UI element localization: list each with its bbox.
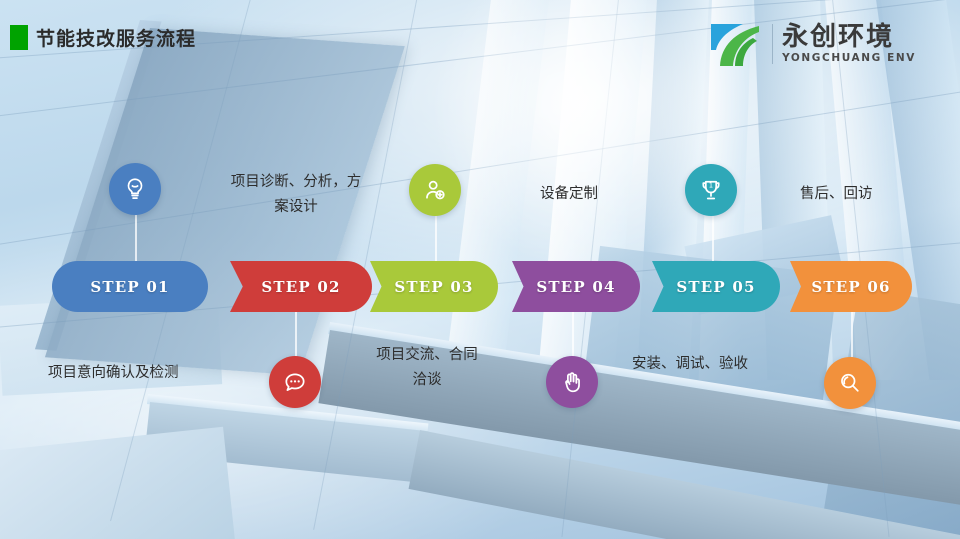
background-glow [430, 0, 730, 270]
step-label: STEP 01 [90, 278, 169, 296]
logo-name-en: YONGCHUANG ENV [782, 53, 916, 64]
swoosh-leaf-icon [709, 20, 763, 68]
connector-step-04 [572, 312, 574, 356]
trophy-icon[interactable]: 1 [685, 164, 737, 216]
company-logo: 永创环境 YONGCHUANG ENV [709, 20, 916, 68]
logo-name-cn: 永创环境 [782, 24, 916, 50]
hand-icon[interactable] [546, 356, 598, 408]
connector-step-01 [135, 215, 137, 261]
step-bar-step-03[interactable]: STEP 03 [370, 261, 498, 312]
slide-canvas: 节能技改服务流程 永创环境 YONGCHUANG ENV STEP 01 项目意… [0, 0, 960, 539]
logo-divider [772, 24, 773, 64]
step-label: STEP 02 [261, 278, 340, 296]
caption-step-04: 设备定制 [540, 182, 680, 207]
caption-step-03: 项目交流、合同 洽谈 [352, 343, 502, 393]
svg-text:1: 1 [709, 181, 713, 189]
step-label: STEP 03 [394, 278, 473, 296]
caption-step-06: 售后、回访 [800, 182, 940, 207]
page-title: 节能技改服务流程 [36, 24, 196, 51]
step-bar-step-05[interactable]: STEP 05 [652, 261, 780, 312]
connector-step-06 [851, 312, 853, 357]
logo-text: 永创环境 YONGCHUANG ENV [782, 24, 916, 64]
title-marker [10, 25, 28, 50]
caption-step-05: 安装、调试、验收 [632, 352, 812, 377]
caption-step-02: 项目诊断、分析，方 案设计 [206, 170, 386, 220]
step-label: STEP 04 [536, 278, 615, 296]
step-bar-step-01[interactable]: STEP 01 [52, 261, 208, 312]
add-user-icon[interactable] [409, 164, 461, 216]
step-bar-step-06[interactable]: STEP 06 [790, 261, 912, 312]
step-bar-step-02[interactable]: STEP 02 [230, 261, 372, 312]
step-label: STEP 06 [811, 278, 890, 296]
connector-step-02 [295, 312, 297, 356]
step-bar-step-04[interactable]: STEP 04 [512, 261, 640, 312]
step-label: STEP 05 [676, 278, 755, 296]
magnifier-icon[interactable] [824, 357, 876, 409]
caption-step-01: 项目意向确认及检测 [48, 361, 238, 386]
lightbulb-icon[interactable] [109, 163, 161, 215]
connector-step-05 [712, 216, 714, 261]
chat-bubble-icon[interactable] [269, 356, 321, 408]
connector-step-03 [435, 216, 437, 261]
